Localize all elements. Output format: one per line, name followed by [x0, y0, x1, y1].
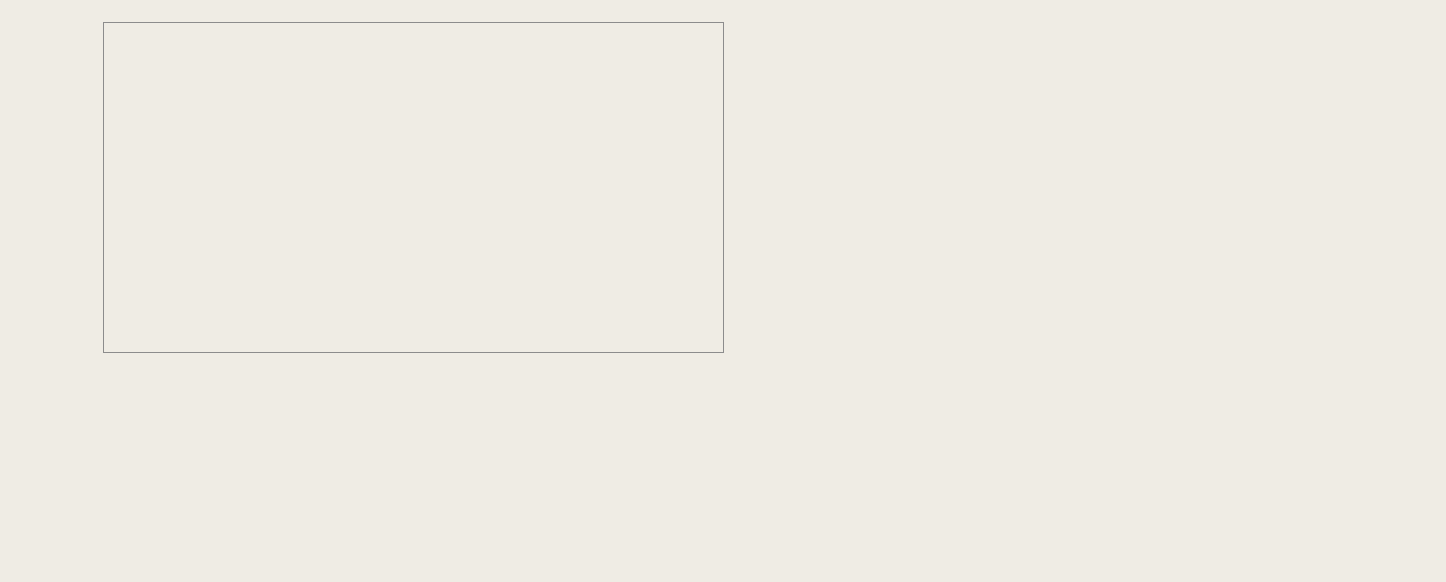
stacked-bar-chart-panel	[0, 0, 760, 582]
bar-chart-plot-area	[103, 22, 724, 353]
bar-chart-y-axis-ticks	[22, 0, 97, 400]
bar-chart-legend	[115, 466, 735, 478]
heatmap-panel	[760, 0, 1446, 582]
heatmap-grid	[895, 26, 1425, 337]
